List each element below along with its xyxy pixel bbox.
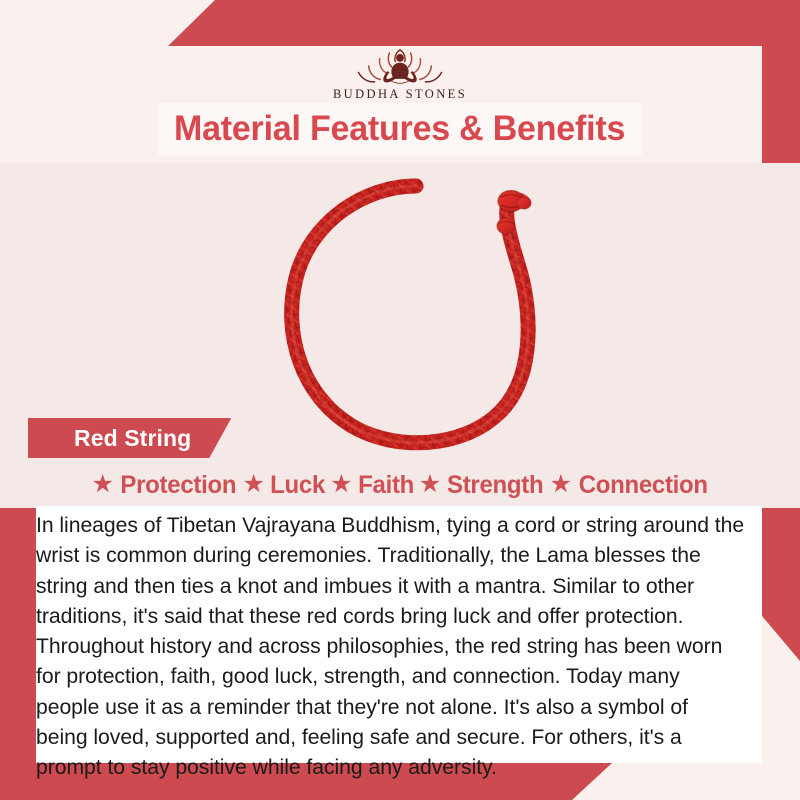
feature-label: Protection	[120, 471, 236, 500]
feature-list: ★ Protection ★ Luck ★ Faith ★ Strength ★…	[36, 466, 766, 504]
decor-top-bar	[0, 0, 800, 46]
product-image	[268, 168, 564, 464]
brand-logo: BUDDHA STONES	[0, 46, 800, 102]
description-text: In lineages of Tibetan Vajrayana Buddhis…	[36, 506, 751, 783]
brand-name: BUDDHA STONES	[333, 87, 467, 102]
page-title: Material Features & Benefits	[174, 109, 625, 149]
star-icon: ★	[419, 472, 441, 497]
title-banner: Material Features & Benefits	[158, 103, 642, 155]
feature-label: Faith	[358, 471, 414, 500]
feature-item-faith: ★ Faith	[330, 471, 415, 500]
feature-item-protection: ★ Protection	[92, 471, 239, 500]
star-icon: ★	[330, 472, 352, 497]
feature-label: Strength	[447, 471, 543, 500]
star-icon: ★	[243, 472, 265, 497]
feature-label: Luck	[270, 471, 325, 500]
product-name-ribbon: Red String	[28, 418, 231, 458]
feature-item-connection: ★ Connection	[550, 471, 711, 500]
feature-item-luck: ★ Luck	[243, 471, 327, 500]
feature-item-strength: ★ Strength	[419, 471, 546, 500]
star-icon: ★	[92, 472, 114, 497]
feature-label: Connection	[579, 471, 708, 500]
product-name-label: Red String	[74, 425, 191, 452]
description-panel: In lineages of Tibetan Vajrayana Buddhis…	[36, 506, 762, 763]
poster-root: BUDDHA STONES Material Features & Benefi…	[0, 0, 800, 800]
star-icon: ★	[550, 472, 572, 497]
red-braided-string-bracelet-icon	[268, 168, 564, 464]
lotus-meditation-icon	[325, 42, 475, 90]
